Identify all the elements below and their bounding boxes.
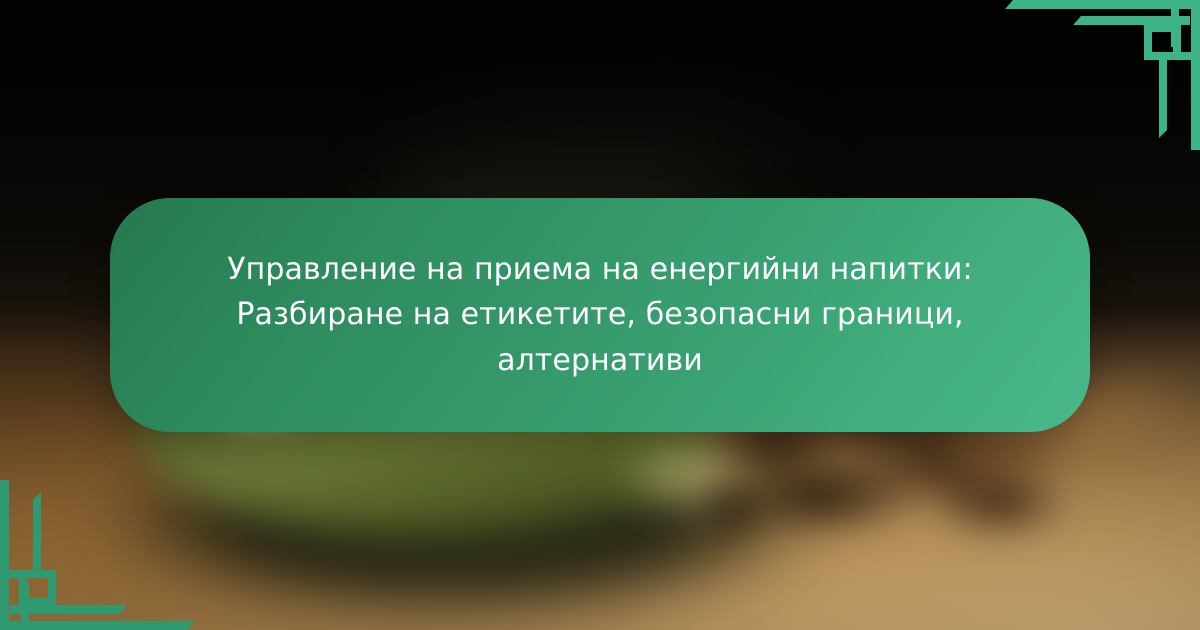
social-card-canvas: Управление на приема на енергийни напитк… bbox=[0, 0, 1200, 630]
page-title: Управление на приема на енергийни напитк… bbox=[185, 247, 1015, 384]
title-card: Управление на приема на енергийни напитк… bbox=[110, 198, 1090, 432]
